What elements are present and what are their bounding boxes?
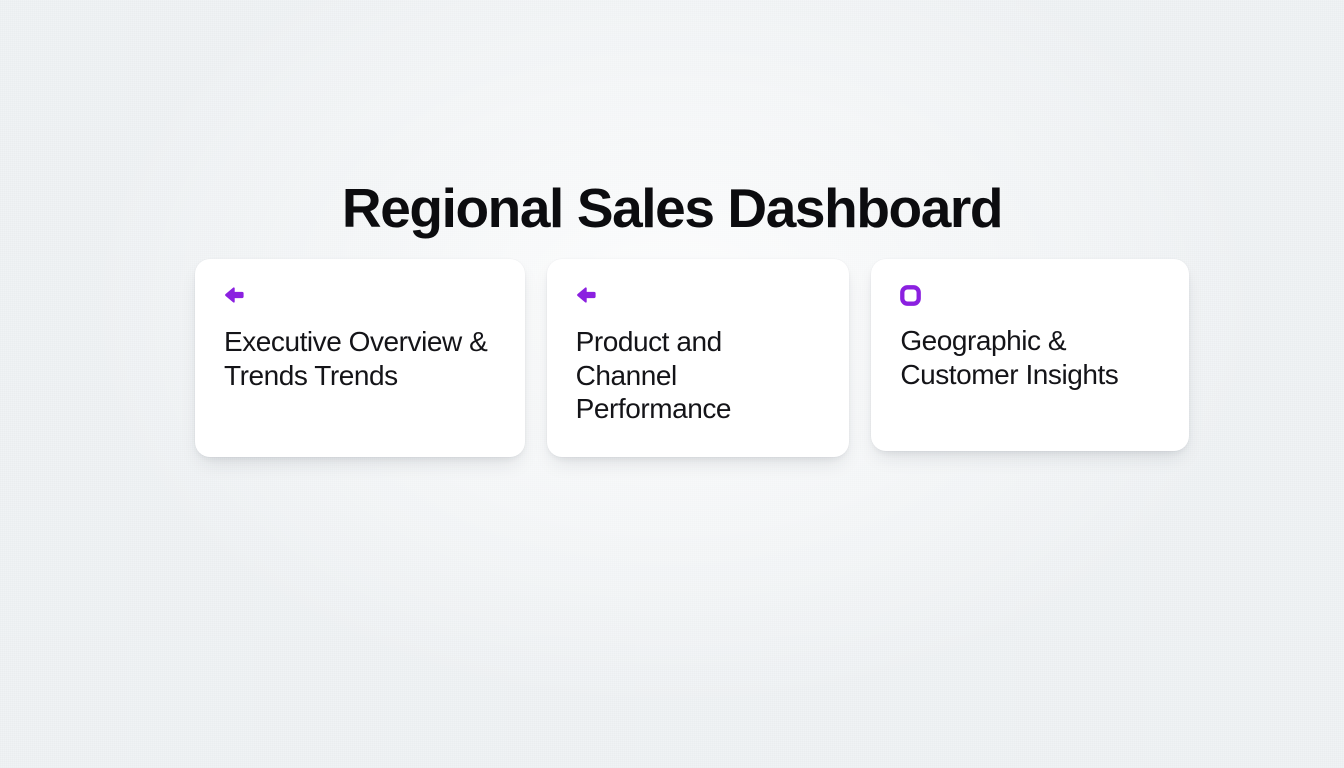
card-product-channel-performance[interactable]: Product and Channel Performance: [547, 259, 850, 457]
card-geographic-customer-insights[interactable]: Geographic & Customer Insights: [871, 259, 1189, 451]
arrow-left-icon: [224, 285, 245, 305]
dashboard-page: Regional Sales Dashboard Executive Overv…: [0, 0, 1344, 768]
card-label: Executive Overview & Trends Trends: [224, 325, 501, 392]
arrow-left-icon: [576, 285, 597, 305]
card-label: Geographic & Customer Insights: [900, 324, 1165, 392]
card-row: Executive Overview & Trends Trends Produ…: [195, 259, 1189, 457]
card-label: Product and Channel Performance: [576, 325, 826, 426]
page-title: Regional Sales Dashboard: [0, 171, 1344, 245]
rounded-square-outline-icon: [900, 285, 921, 305]
card-executive-overview[interactable]: Executive Overview & Trends Trends: [195, 259, 525, 457]
